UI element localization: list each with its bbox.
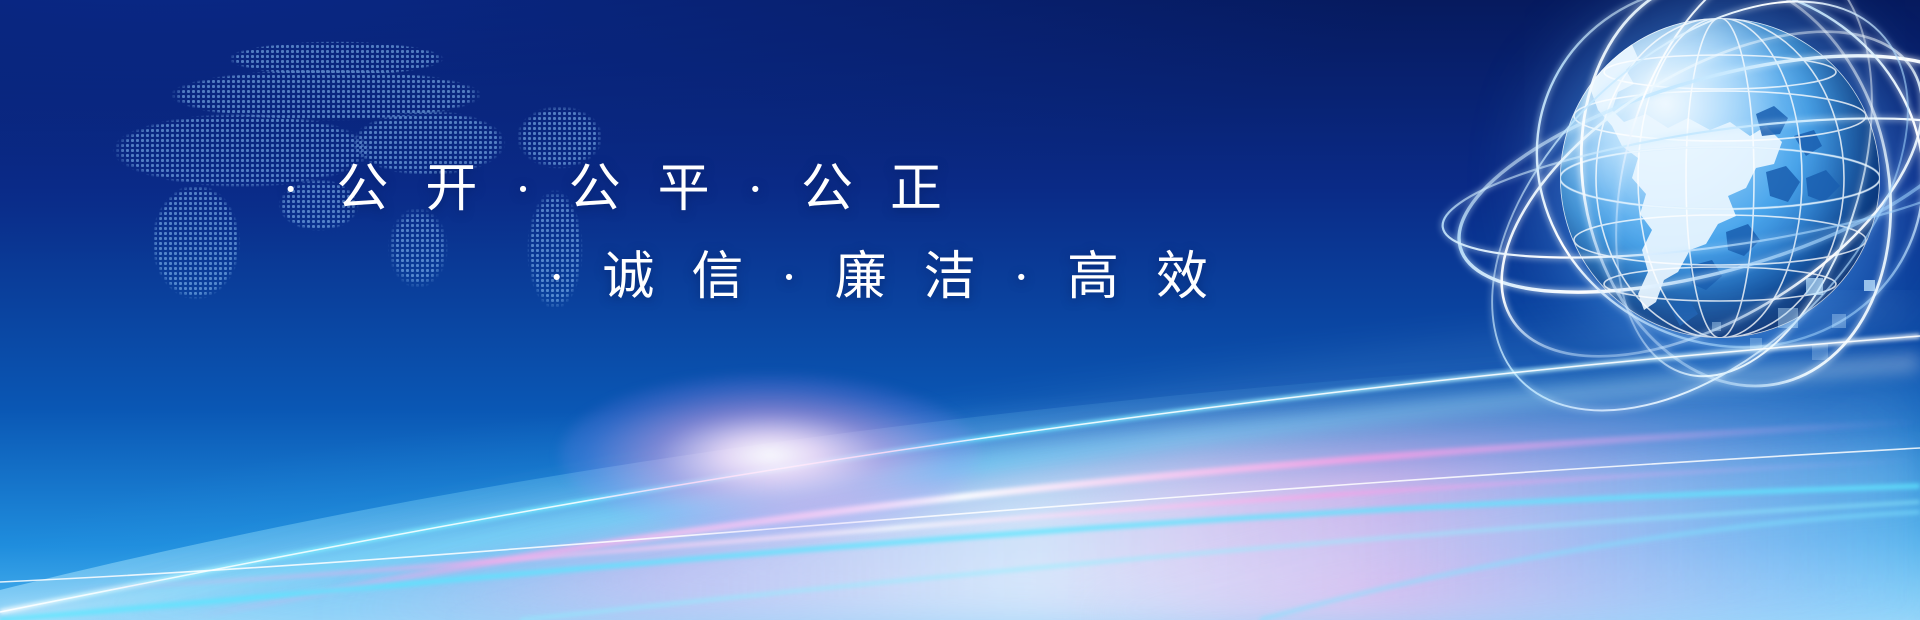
pixel-square [1778,308,1798,328]
globe-sphere [1560,18,1880,338]
dotted-world-map-graphic [30,8,690,358]
slogan-line-2: · 诚 信 · 廉 洁 · 高 效 [548,234,1220,309]
pixel-square [1750,338,1762,350]
government-slogan-banner: · 公 开 · 公 平 · 公 正 · 诚 信 · 廉 洁 · 高 效 [0,0,1920,620]
slogan-line-1: · 公 开 · 公 平 · 公 正 [282,146,954,221]
pixel-square [1832,314,1846,328]
pixel-square [1806,278,1823,295]
pixel-square [1812,344,1828,360]
wave-glow-core [560,375,980,535]
globe-graphic [1460,0,1920,408]
globe-wireframe-grid [1560,18,1880,338]
slogan-text-block: · 公 开 · 公 平 · 公 正 · 诚 信 · 廉 洁 · 高 效 [0,0,1160,400]
light-wave-graphic [0,290,1920,620]
pixel-square [1864,280,1875,291]
globe-continent-north-america [1560,18,1880,338]
pixel-square [1712,322,1721,331]
globe-orbital-rings [1400,0,1920,468]
